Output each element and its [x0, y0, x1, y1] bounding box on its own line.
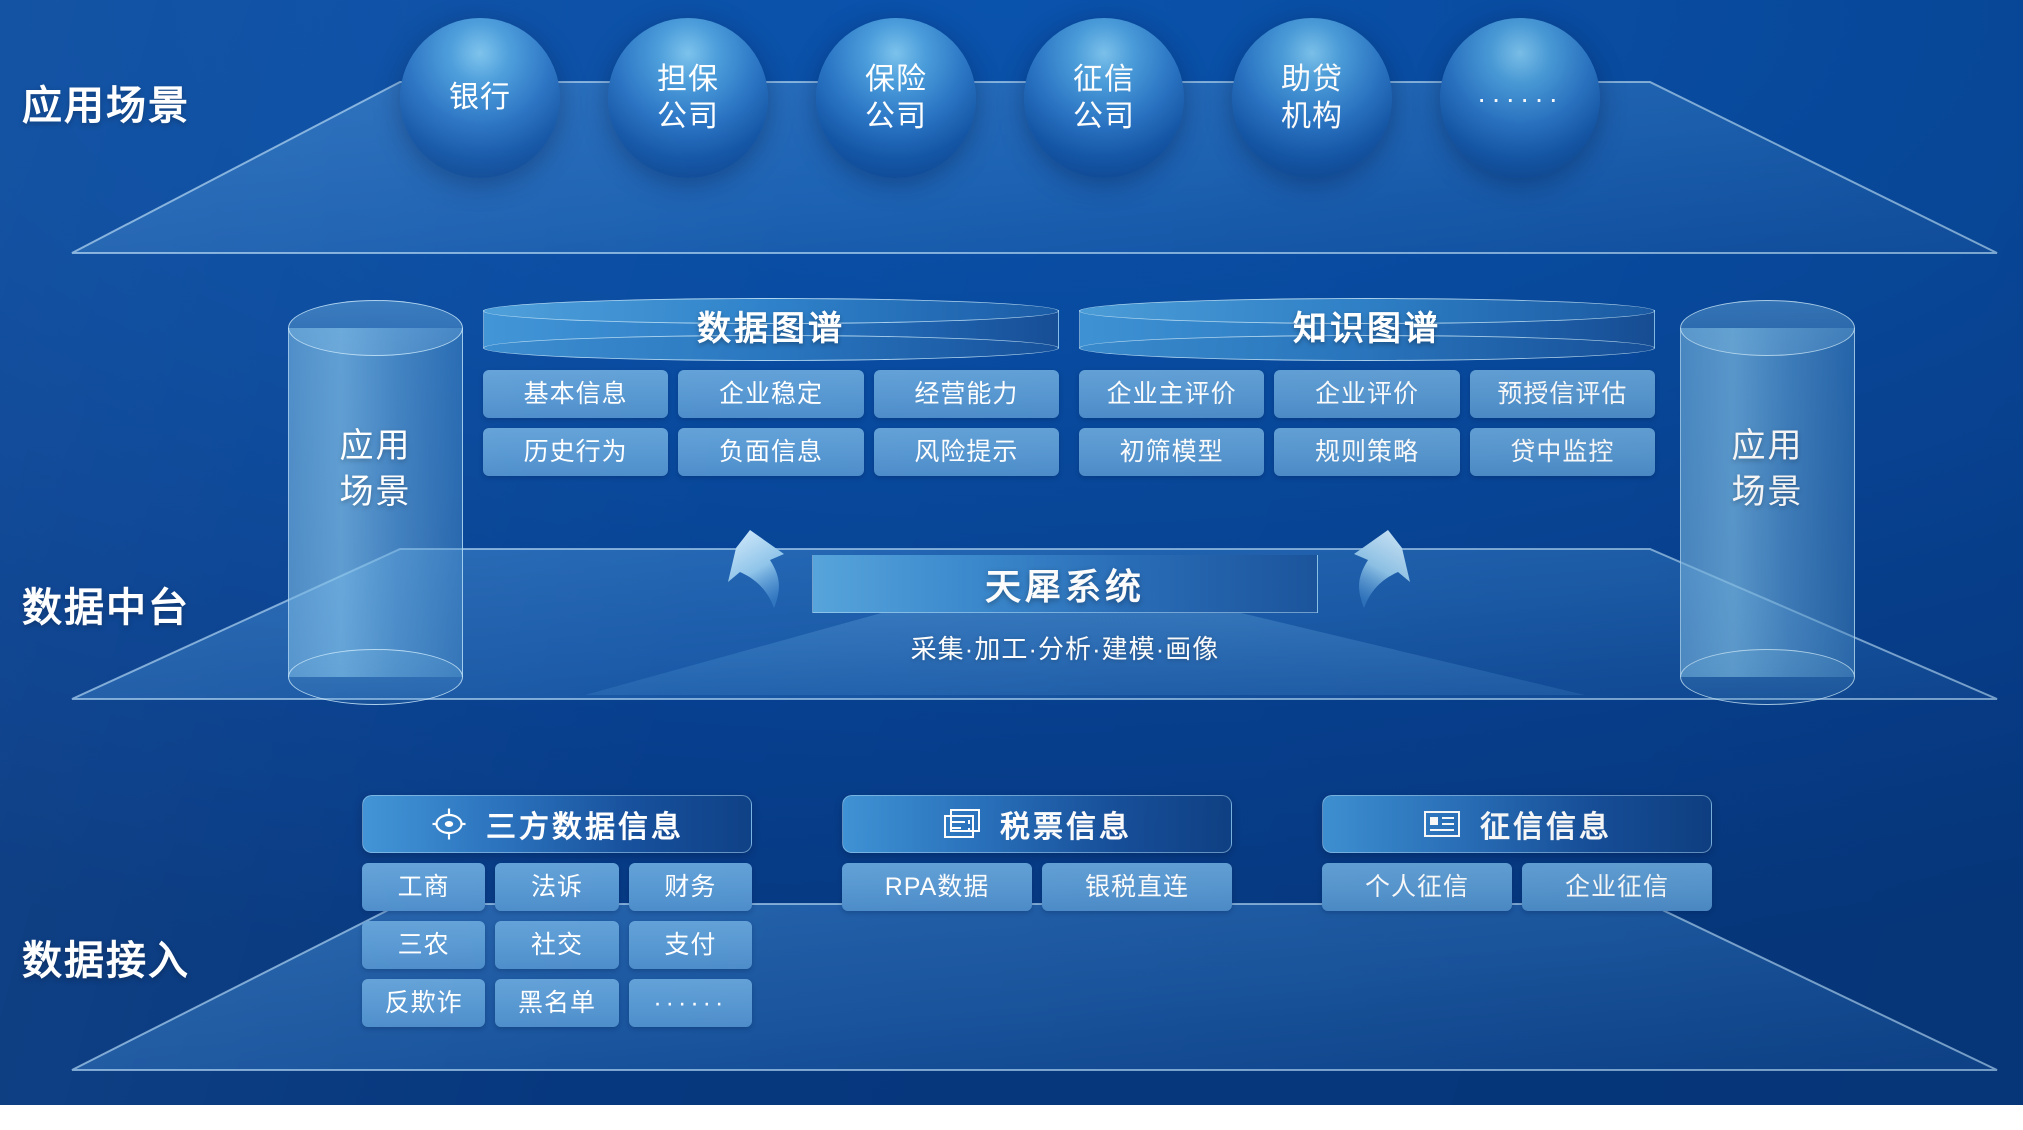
- sphere-line: 银行: [449, 79, 511, 117]
- card-tag-grid: RPA数据 银税直连: [842, 863, 1232, 911]
- sphere-line: 公司: [1073, 98, 1135, 136]
- section-label-application: 应用场景: [22, 73, 190, 131]
- tag-item[interactable]: 贷中监控: [1470, 428, 1655, 476]
- sphere-line: 公司: [865, 98, 927, 136]
- card-header[interactable]: 税票信息: [842, 795, 1232, 853]
- tag-item[interactable]: 历史行为: [483, 428, 668, 476]
- cylinder-label: 应用 场景: [1680, 424, 1855, 516]
- cylinder-label-line: 应用: [288, 424, 463, 470]
- cylinder-label-line: 场景: [1680, 470, 1855, 516]
- tag-item[interactable]: 风险提示: [874, 428, 1059, 476]
- tag-item[interactable]: 企业稳定: [678, 370, 863, 418]
- tag-item[interactable]: 负面信息: [678, 428, 863, 476]
- right-swoosh-arrow-icon: [1312, 526, 1432, 631]
- sphere-line: ······: [1477, 81, 1563, 116]
- data-graph-title: 数据图谱: [483, 308, 1059, 350]
- cylinder-top: [288, 300, 463, 356]
- cylinder-bottom: [288, 649, 463, 705]
- data-source-card-credit: 征信信息 个人征信 企业征信: [1322, 795, 1712, 911]
- source-tag[interactable]: 支付: [629, 921, 752, 969]
- card-header[interactable]: 三方数据信息: [362, 795, 752, 853]
- knowledge-graph-title: 知识图谱: [1079, 308, 1655, 350]
- data-source-card-third-party: 三方数据信息 工商 法诉 财务 三农 社交 支付 反欺诈 黑名单 ······: [362, 795, 752, 1027]
- source-tag[interactable]: 三农: [362, 921, 485, 969]
- sphere-line: 机构: [1281, 98, 1343, 136]
- cylinder-label: 应用 场景: [288, 424, 463, 516]
- invoice-icon: [942, 807, 982, 841]
- source-tag[interactable]: 银税直连: [1042, 863, 1232, 911]
- banner-shape: 天犀系统: [812, 541, 1318, 613]
- tag-item[interactable]: 基本信息: [483, 370, 668, 418]
- scenario-sphere-insurance: 保险 公司: [816, 18, 976, 178]
- cylinder-bottom: [1680, 649, 1855, 705]
- source-tag[interactable]: RPA数据: [842, 863, 1032, 911]
- scenario-sphere-more: ······: [1440, 18, 1600, 178]
- sphere-line: 担保: [657, 61, 719, 99]
- sphere-line: 征信: [1073, 61, 1135, 99]
- source-tag[interactable]: 财务: [629, 863, 752, 911]
- id-card-icon: [1422, 808, 1462, 840]
- section-label-middleware: 数据中台: [22, 575, 190, 633]
- cylinder-top: [1680, 300, 1855, 356]
- right-application-cylinder: 应用 场景: [1680, 300, 1855, 705]
- application-platform: [0, 70, 2023, 265]
- source-tag[interactable]: 企业征信: [1522, 863, 1712, 911]
- tianxi-system-subtitle: 采集·加工·分析·建模·画像: [812, 629, 1318, 666]
- knowledge-graph-header: 知识图谱: [1079, 298, 1655, 360]
- card-title: 三方数据信息: [486, 802, 684, 846]
- data-graph-block: 数据图谱 基本信息 企业稳定 经营能力 历史行为 负面信息 风险提示: [483, 298, 1059, 476]
- tag-item[interactable]: 经营能力: [874, 370, 1059, 418]
- data-source-card-tax-invoice: 税票信息 RPA数据 银税直连: [842, 795, 1232, 911]
- tianxi-system-banner: 天犀系统 采集·加工·分析·建模·画像: [812, 541, 1318, 666]
- sphere-line: 公司: [657, 98, 719, 136]
- scenario-sphere-loan-facilitator: 助贷 机构: [1232, 18, 1392, 178]
- source-tag[interactable]: 黑名单: [495, 979, 618, 1027]
- source-tag[interactable]: 工商: [362, 863, 485, 911]
- ingest-platform: [0, 900, 2023, 1080]
- sphere-line: 助贷: [1281, 61, 1343, 99]
- scenario-sphere-guarantee: 担保 公司: [608, 18, 768, 178]
- tianxi-system-title: 天犀系统: [813, 556, 1317, 612]
- tag-item[interactable]: 初筛模型: [1079, 428, 1264, 476]
- data-graph-tags: 基本信息 企业稳定 经营能力 历史行为 负面信息 风险提示: [483, 370, 1059, 476]
- source-tag[interactable]: 法诉: [495, 863, 618, 911]
- source-tag[interactable]: 社交: [495, 921, 618, 969]
- target-locate-icon: [430, 805, 468, 843]
- card-header[interactable]: 征信信息: [1322, 795, 1712, 853]
- left-swoosh-arrow-icon: [706, 526, 826, 631]
- card-tag-grid: 个人征信 企业征信: [1322, 863, 1712, 911]
- scenario-sphere-credit-agency: 征信 公司: [1024, 18, 1184, 178]
- knowledge-graph-tags: 企业主评价 企业评价 预授信评估 初筛模型 规则策略 贷中监控: [1079, 370, 1655, 476]
- section-label-ingest: 数据接入: [22, 928, 190, 986]
- scenario-sphere-bank: 银行: [400, 18, 560, 178]
- sphere-line: 保险: [865, 61, 927, 99]
- source-tag[interactable]: 反欺诈: [362, 979, 485, 1027]
- cylinder-label-line: 场景: [288, 470, 463, 516]
- cylinder-label-line: 应用: [1680, 424, 1855, 470]
- knowledge-graph-block: 知识图谱 企业主评价 企业评价 预授信评估 初筛模型 规则策略 贷中监控: [1079, 298, 1655, 476]
- diagram-canvas: 应用场景 银行 担保 公司 保险 公司 征信 公司 助贷 机: [0, 0, 2023, 1105]
- card-tag-grid: 工商 法诉 财务 三农 社交 支付 反欺诈 黑名单 ······: [362, 863, 752, 1027]
- card-title: 税票信息: [1000, 802, 1132, 846]
- data-graph-header: 数据图谱: [483, 298, 1059, 360]
- tag-item[interactable]: 预授信评估: [1470, 370, 1655, 418]
- source-tag[interactable]: 个人征信: [1322, 863, 1512, 911]
- left-application-cylinder: 应用 场景: [288, 300, 463, 705]
- tag-item[interactable]: 规则策略: [1274, 428, 1459, 476]
- source-tag-more[interactable]: ······: [629, 979, 752, 1027]
- architecture-diagram: 应用场景 银行 担保 公司 保险 公司 征信 公司 助贷 机: [0, 0, 2023, 1130]
- card-title: 征信信息: [1480, 802, 1612, 846]
- tag-item[interactable]: 企业评价: [1274, 370, 1459, 418]
- tag-item[interactable]: 企业主评价: [1079, 370, 1264, 418]
